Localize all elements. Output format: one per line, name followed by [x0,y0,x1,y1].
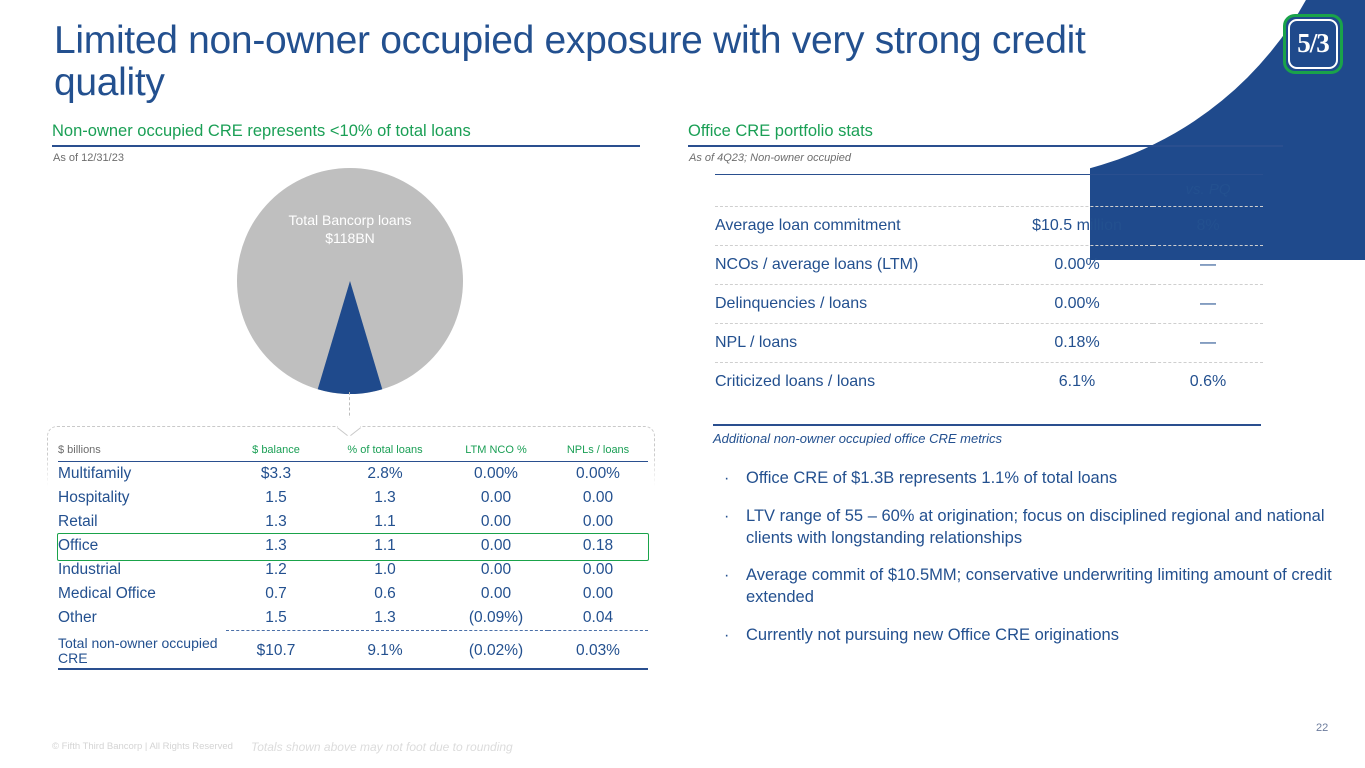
total-npl: 0.03% [548,631,648,669]
right-section-subtitle: As of 4Q23; Non-owner occupied [689,152,851,164]
row-balance: 1.2 [226,558,326,582]
fifth-third-logo: 5/3 [1283,14,1343,74]
row-nco: (0.09%) [444,606,548,631]
stats-col-header-metric [715,175,1001,207]
row-balance: $3.3 [226,462,326,487]
table-row: Industrial 1.2 1.0 0.00 0.00 [58,558,648,582]
stats-value: 0.00% [1001,246,1153,285]
col-header-nco: LTM NCO % [444,444,548,462]
stats-label: Delinquencies / loans [715,285,1001,324]
table-total-row: Total non-owner occupied CRE $10.7 9.1% … [58,631,648,669]
row-nco: 0.00 [444,558,548,582]
row-nco: 0.00% [444,462,548,487]
pie-svg [237,168,463,394]
bullet-dot-icon: · [724,468,729,489]
col-header-balance: $ balance [226,444,326,462]
logo-glyph: 5/3 [1286,17,1340,71]
row-nco: 0.00 [444,582,548,606]
stats-value: 0.00% [1001,285,1153,324]
table-row: Hospitality 1.5 1.3 0.00 0.00 [58,486,648,510]
stats-vs-pq: — [1153,246,1263,285]
additional-metrics-heading: Additional non-owner occupied office CRE… [713,431,1002,446]
stats-col-header-value [1001,175,1153,207]
row-pct: 1.3 [326,486,444,510]
bullet-text: Average commit of $10.5MM; conservative … [746,566,1332,606]
row-npl: 0.00% [548,462,648,487]
row-npl: 0.00 [548,582,648,606]
row-label: Hospitality [58,486,226,510]
left-section-subtitle: As of 12/31/23 [53,152,124,164]
office-cre-stats-table: vs. PQ Average loan commitment $10.5 mil… [715,174,1263,401]
row-balance: 1.3 [226,510,326,534]
bullet-dot-icon: · [724,506,729,527]
total-nco: (0.02%) [444,631,548,669]
left-section-rule [52,145,640,147]
row-label: Office [58,534,226,558]
slide-root: 5/3 Limited non-owner occupied exposure … [0,0,1365,768]
bullet-dot-icon: · [724,565,729,586]
table-row: Other 1.5 1.3 (0.09%) 0.04 [58,606,648,631]
footer-copyright: © Fifth Third Bancorp | All Rights Reser… [52,741,233,752]
stats-vs-pq: — [1153,324,1263,363]
table-row-office-highlighted: Office 1.3 1.1 0.00 0.18 [58,534,648,558]
total-pct: 9.1% [326,631,444,669]
table-row: Retail 1.3 1.1 0.00 0.00 [58,510,648,534]
row-pct: 1.0 [326,558,444,582]
col-header-units: $ billions [58,444,226,462]
stats-row: NPL / loans 0.18% — [715,324,1263,363]
total-loans-pie-chart: Total Bancorp loans $118BN [237,168,463,394]
cre-breakdown-table: $ billions $ balance % of total loans LT… [58,444,648,669]
callout-notch [338,418,360,428]
row-label: Industrial [58,558,226,582]
stats-vs-pq: 8% [1153,207,1263,246]
list-item: · Office CRE of $1.3B represents 1.1% of… [722,468,1342,490]
bullet-text: Office CRE of $1.3B represents 1.1% of t… [746,469,1117,487]
table-header-row: $ billions $ balance % of total loans LT… [58,444,648,462]
row-pct: 1.1 [326,534,444,558]
row-pct: 1.1 [326,510,444,534]
stats-vs-pq: — [1153,285,1263,324]
row-pct: 0.6 [326,582,444,606]
right-section-heading: Office CRE portfolio stats [688,122,873,141]
stats-label: Criticized loans / loans [715,363,1001,402]
stats-value: 6.1% [1001,363,1153,402]
page-number: 22 [1316,722,1328,734]
row-label: Multifamily [58,462,226,487]
row-nco: 0.00 [444,534,548,558]
stats-col-header-vs-pq: vs. PQ [1153,175,1263,207]
row-npl: 0.18 [548,534,648,558]
right-section-rule [688,145,1283,147]
left-section-heading: Non-owner occupied CRE represents <10% o… [52,122,471,141]
stats-row: Average loan commitment $10.5 million 8% [715,207,1263,246]
stats-bottom-rule [713,424,1261,426]
stats-value: 0.18% [1001,324,1153,363]
bullet-dot-icon: · [724,625,729,646]
footer-rounding-note: Totals shown above may not foot due to r… [251,740,513,754]
row-pct: 2.8% [326,462,444,487]
col-header-pct: % of total loans [326,444,444,462]
bullet-text: Currently not pursuing new Office CRE or… [746,626,1119,644]
col-header-npl: NPLs / loans [548,444,648,462]
stats-row: Criticized loans / loans 6.1% 0.6% [715,363,1263,402]
stats-header-row: vs. PQ [715,175,1263,207]
row-npl: 0.00 [548,558,648,582]
stats-value: $10.5 million [1001,207,1153,246]
row-balance: 0.7 [226,582,326,606]
row-npl: 0.00 [548,510,648,534]
stats-vs-pq: 0.6% [1153,363,1263,402]
metrics-bullet-list: · Office CRE of $1.3B represents 1.1% of… [722,468,1342,663]
list-item: · Average commit of $10.5MM; conservativ… [722,565,1342,609]
page-title: Limited non-owner occupied exposure with… [54,20,1144,104]
table-row: Medical Office 0.7 0.6 0.00 0.00 [58,582,648,606]
stats-label: NCOs / average loans (LTM) [715,246,1001,285]
table-bottom-rule [58,668,648,670]
list-item: · LTV range of 55 – 60% at origination; … [722,506,1342,550]
row-label: Other [58,606,226,631]
row-npl: 0.00 [548,486,648,510]
list-item: · Currently not pursuing new Office CRE … [722,625,1342,647]
row-nco: 0.00 [444,486,548,510]
total-label: Total non-owner occupied CRE [58,631,226,669]
stats-row: Delinquencies / loans 0.00% — [715,285,1263,324]
stats-label: Average loan commitment [715,207,1001,246]
stats-label: NPL / loans [715,324,1001,363]
table-row: Multifamily $3.3 2.8% 0.00% 0.00% [58,462,648,487]
stats-row: NCOs / average loans (LTM) 0.00% — [715,246,1263,285]
row-npl: 0.04 [548,606,648,631]
row-balance: 1.5 [226,486,326,510]
row-nco: 0.00 [444,510,548,534]
row-balance: 1.5 [226,606,326,631]
row-label: Medical Office [58,582,226,606]
row-balance: 1.3 [226,534,326,558]
row-pct: 1.3 [326,606,444,631]
bullet-text: LTV range of 55 – 60% at origination; fo… [746,507,1325,547]
row-label: Retail [58,510,226,534]
total-balance: $10.7 [226,631,326,669]
